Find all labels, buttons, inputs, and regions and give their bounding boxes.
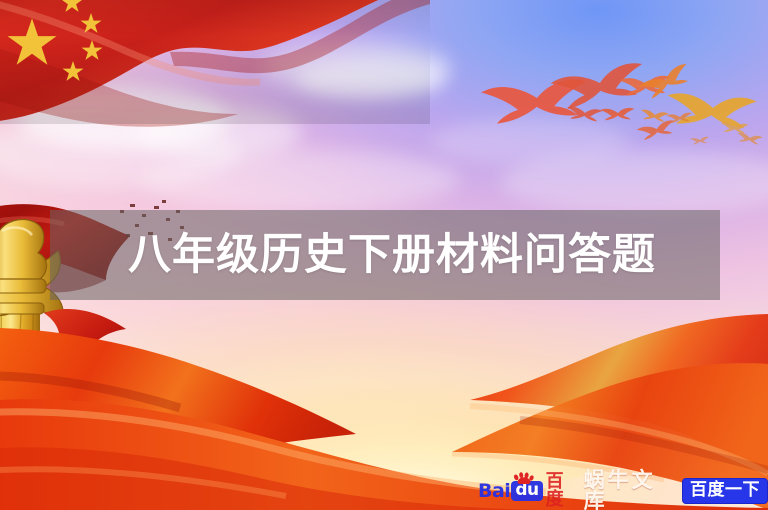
paw-print-icon [513,472,535,484]
baidu-logo[interactable]: Bai du 百度 [478,478,576,504]
site-name-watermark: 蜗牛文库 [584,470,674,510]
baidu-logo-bai-text: Bai [478,482,510,501]
baidu-search-button-label: 百度一下 [690,480,760,500]
watermark-bar: Bai du 百度 蜗牛文库 [478,476,768,506]
chinese-national-flag-icon [0,0,430,184]
baidu-logo-chinese-text: 百度 [546,473,576,509]
baidu-search-button[interactable]: 百度一下 [682,478,768,504]
page-title: 八年级历史下册材料问答题 [50,234,656,277]
baidu-logo-du-box: du [511,481,542,501]
title-banner: 八年级历史下册材料问答题 [50,210,720,300]
poster-image: 八年级历史下册材料问答题 Bai du [0,0,768,510]
